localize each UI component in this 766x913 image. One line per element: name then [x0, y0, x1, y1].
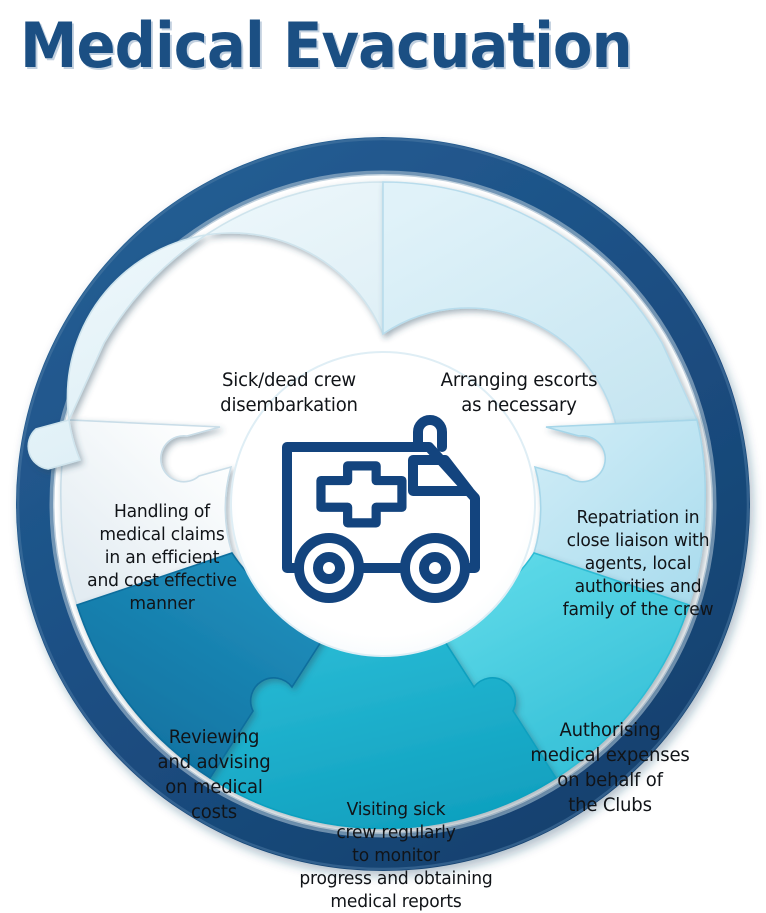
title-bar: Medical Evacuation — [0, 0, 766, 110]
page-title: Medical Evacuation — [20, 10, 632, 82]
puzzle-ring-svg — [0, 110, 766, 899]
infographic-page: Medical Evacuation — [0, 0, 766, 899]
medical-evacuation-puzzle-ring: Sick/dead crew disembarkation Arranging … — [0, 110, 766, 899]
